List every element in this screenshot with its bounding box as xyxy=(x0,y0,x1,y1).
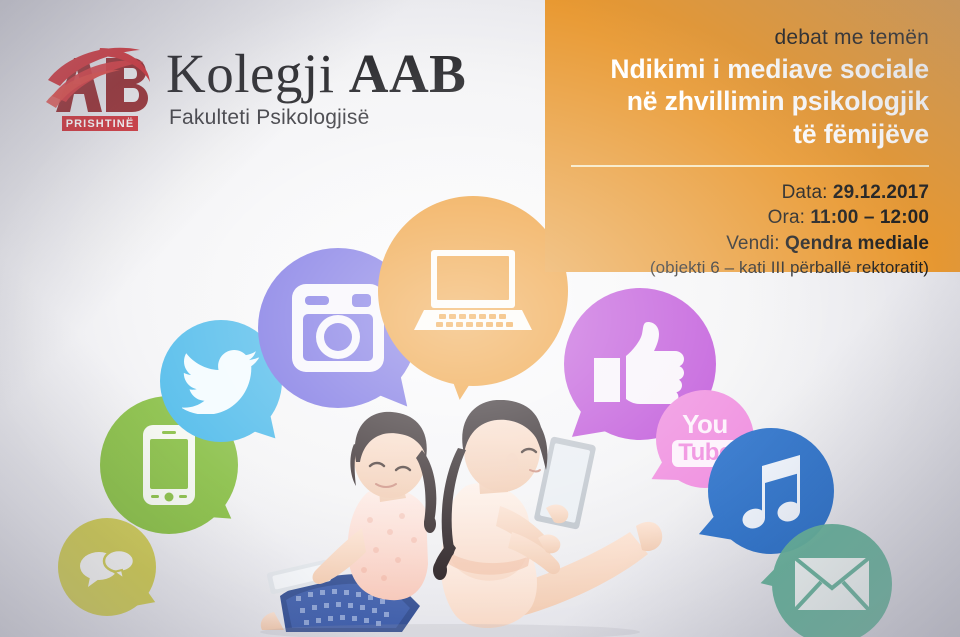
smartphone-icon xyxy=(141,423,197,507)
detail-time-value: 11:00 – 12:00 xyxy=(810,207,929,228)
detail-time-label: Ora: xyxy=(768,207,805,228)
laptop-icon xyxy=(414,248,532,334)
bubble-tail xyxy=(756,559,794,600)
brand-title-light: Kolegji xyxy=(166,43,349,104)
logo-prishtine-text: PRISHTINË xyxy=(66,117,135,130)
thumbs-up-icon xyxy=(592,320,688,408)
detail-date-value: 29.12.2017 xyxy=(833,182,929,203)
bubble-tail xyxy=(693,508,733,550)
bubble-messaging xyxy=(58,518,156,616)
panel-kicker: debat me temën xyxy=(571,26,929,50)
chat-bubbles-icon xyxy=(78,545,136,589)
detail-date-label: Data: xyxy=(782,182,828,203)
headline-line-1: Ndikimi i mediave sociale xyxy=(571,53,929,85)
bubble-laptop xyxy=(378,196,568,386)
bubble-tail xyxy=(196,487,241,534)
twitter-bird-icon xyxy=(182,348,260,414)
aab-logo-mark: PRISHTINË xyxy=(44,40,152,136)
logo-wordmark: Kolegji AAB Fakulteti Psikologjisë xyxy=(166,46,466,130)
youtube-text-you: You xyxy=(672,411,738,437)
detail-time: Ora: 11:00 – 12:00 xyxy=(571,205,929,230)
logo-block: PRISHTINË Kolegji AAB Fakulteti Psikolog… xyxy=(44,40,466,136)
brand-title-bold: AAB xyxy=(349,43,467,104)
girl-left xyxy=(261,412,437,632)
panel-divider xyxy=(571,165,929,167)
envelope-icon xyxy=(793,556,871,612)
instagram-camera-icon xyxy=(290,282,386,374)
detail-venue-value: Qendra mediale xyxy=(785,233,929,254)
panel-headline: Ndikimi i mediave sociale në zhvillimin … xyxy=(571,53,929,150)
two-girls-photo xyxy=(250,400,670,637)
aab-emblem-icon: PRISHTINË xyxy=(44,40,152,136)
two-girls-with-tablets-illustration xyxy=(250,400,670,637)
girl-right xyxy=(433,400,662,628)
detail-venue: Vendi: Qendra mediale xyxy=(571,231,929,256)
brand-subtitle: Fakulteti Psikologjisë xyxy=(169,106,466,130)
venue-note: (objekti 6 – kati III përballë rektorati… xyxy=(571,258,929,278)
detail-date: Data: 29.12.2017 xyxy=(571,180,929,205)
poster-canvas: You Tube xyxy=(0,0,960,637)
event-info-panel: debat me temën Ndikimi i mediave sociale… xyxy=(545,0,960,272)
brand-title: Kolegji AAB xyxy=(166,46,466,101)
music-note-icon xyxy=(738,453,804,529)
headline-line-3: të fëmijëve xyxy=(571,118,929,150)
bubble-email xyxy=(772,524,892,637)
headline-line-2: në zhvillimin psikologjik xyxy=(571,85,929,117)
detail-venue-label: Vendi: xyxy=(726,233,779,254)
bubble-tail xyxy=(438,354,486,402)
